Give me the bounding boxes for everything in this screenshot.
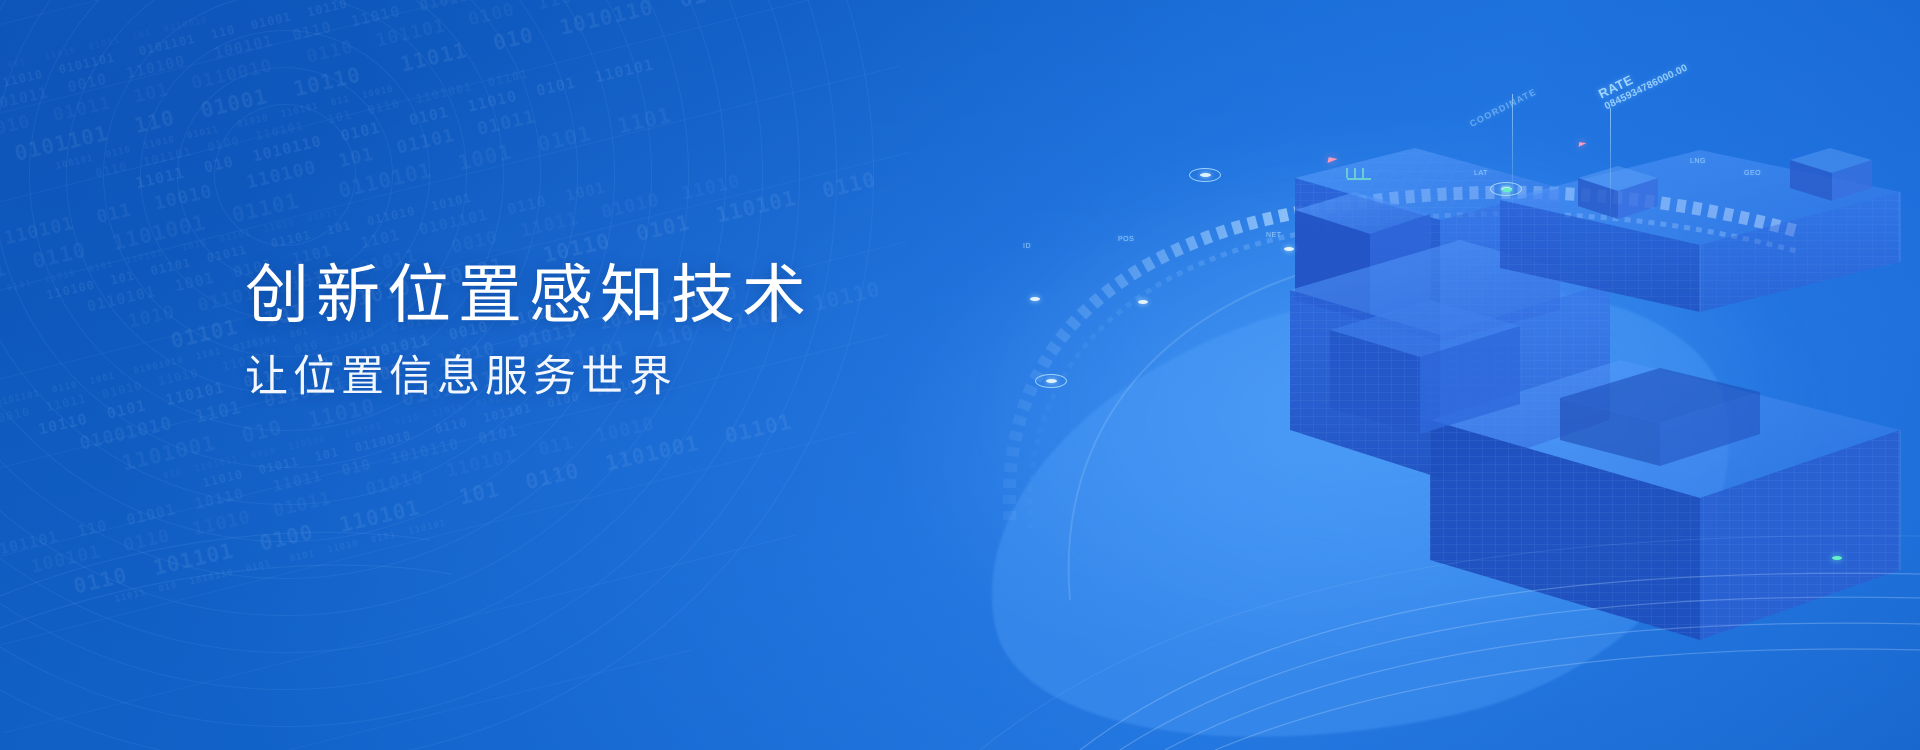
data-dot-icon [1284,247,1294,251]
micro-label: LAT [1474,170,1488,177]
radar-marker-icon [1490,182,1522,196]
location-pin-icon [1327,157,1337,165]
micro-label: LNG [1690,158,1706,165]
data-dot-icon [1030,297,1040,301]
coordinate-label: COORDINATE [1468,86,1538,128]
data-dot-icon [1138,300,1148,304]
data-dot-icon [1502,188,1512,192]
hero-copy: 创新位置感知技术 让位置信息服务世界 [245,262,813,401]
radar-marker-icon [1189,168,1221,182]
antenna-pole [1610,108,1611,220]
radar-marker-icon [1035,374,1067,388]
light-pool-soft [970,150,1830,670]
location-pin-icon [1579,142,1587,148]
page-title: 创新位置感知技术 [245,262,813,330]
bracket-marker-icon [1345,166,1379,182]
page-subtitle: 让位置信息服务世界 [245,354,813,401]
rate-value: 0845934786000.00 [1603,62,1690,112]
hero-banner: 01001010 1101 0110101 001 11010 01011 10… [0,0,1920,750]
ground-plate-shape [944,226,1777,750]
antenna-pole [1512,94,1513,212]
rate-title: RATE [1596,72,1636,102]
micro-label: POS [1118,236,1134,243]
micro-label: NET [1266,232,1282,239]
data-dot-icon [1832,556,1842,560]
micro-label: GEO [1744,170,1761,177]
rate-label: RATE 0845934786000.00 [1596,48,1690,112]
micro-label: ID [1023,243,1031,250]
